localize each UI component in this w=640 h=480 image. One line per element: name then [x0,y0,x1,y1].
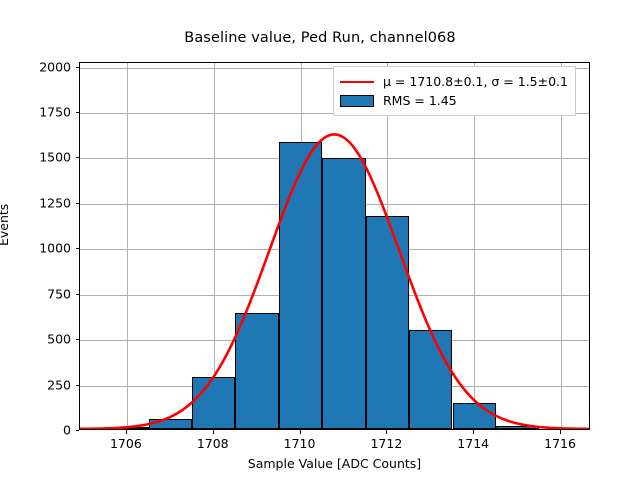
x-tick-label: 1712 [370,436,402,451]
y-tick-mark [76,385,80,386]
y-tick-mark [76,157,80,158]
x-tick-label: 1708 [197,436,229,451]
y-tick-mark [76,339,80,340]
legend-entry-fit: μ = 1710.8±0.1, σ = 1.5±0.1 [340,72,568,91]
y-tick-label: 1000 [39,241,71,256]
chart-title: Baseline value, Ped Run, channel068 [0,30,640,46]
x-tick-label: 1710 [284,436,316,451]
y-tick-label: 1250 [39,195,71,210]
x-tick-mark [560,430,561,434]
y-tick-label: 250 [47,377,71,392]
y-tick-mark [76,430,80,431]
x-tick-label: 1714 [457,436,489,451]
x-tick-label: 1706 [110,436,142,451]
x-tick-mark [473,430,474,434]
y-tick-label: 2000 [39,59,71,74]
y-tick-label: 0 [63,423,71,438]
x-tick-mark [126,430,127,434]
legend-label-histogram: RMS = 1.45 [383,93,457,108]
chart-legend: μ = 1710.8±0.1, σ = 1.5±0.1 RMS = 1.45 [333,66,576,116]
x-axis-label: Sample Value [ADC Counts] [79,456,590,471]
y-tick-mark [76,203,80,204]
x-tick-label: 1716 [544,436,576,451]
y-tick-mark [76,294,80,295]
legend-line-swatch [340,75,374,89]
legend-label-fit: μ = 1710.8±0.1, σ = 1.5±0.1 [383,74,568,89]
histogram-figure: Baseline value, Ped Run, channel068 1706… [0,0,640,480]
y-tick-mark [76,248,80,249]
legend-entry-histogram: RMS = 1.45 [340,91,568,110]
y-tick-label: 750 [47,286,71,301]
x-tick-mark [386,430,387,434]
y-tick-label: 500 [47,332,71,347]
y-tick-mark [76,112,80,113]
plot-area [79,62,590,430]
y-tick-label: 1500 [39,150,71,165]
y-tick-label: 1750 [39,104,71,119]
x-tick-mark [213,430,214,434]
gaussian-fit-curve [80,63,589,429]
x-tick-mark [300,430,301,434]
y-tick-mark [76,67,80,68]
legend-patch-swatch [340,94,374,108]
y-axis-label: Events [0,204,11,246]
